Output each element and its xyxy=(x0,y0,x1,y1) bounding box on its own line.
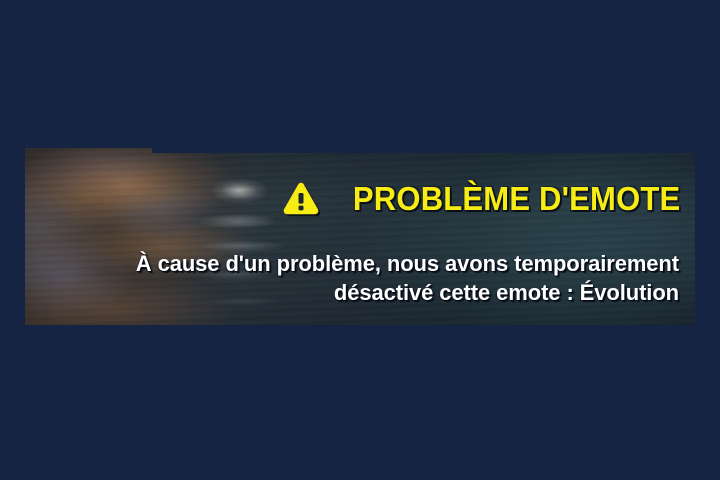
page-root: PROBLÈME D'EMOTE À cause d'un problème, … xyxy=(0,0,720,480)
emote-problem-banner: PROBLÈME D'EMOTE À cause d'un problème, … xyxy=(25,148,695,325)
banner-message-line-2: désactivé cette emote : Évolution xyxy=(136,278,679,307)
banner-message: À cause d'un problème, nous avons tempor… xyxy=(136,249,679,308)
banner-top-notch xyxy=(152,148,695,153)
banner-message-line-1: À cause d'un problème, nous avons tempor… xyxy=(136,249,679,278)
warning-triangle-icon xyxy=(283,182,319,215)
banner-title: PROBLÈME D'EMOTE xyxy=(352,182,680,215)
banner-title-row: PROBLÈME D'EMOTE xyxy=(283,182,680,215)
